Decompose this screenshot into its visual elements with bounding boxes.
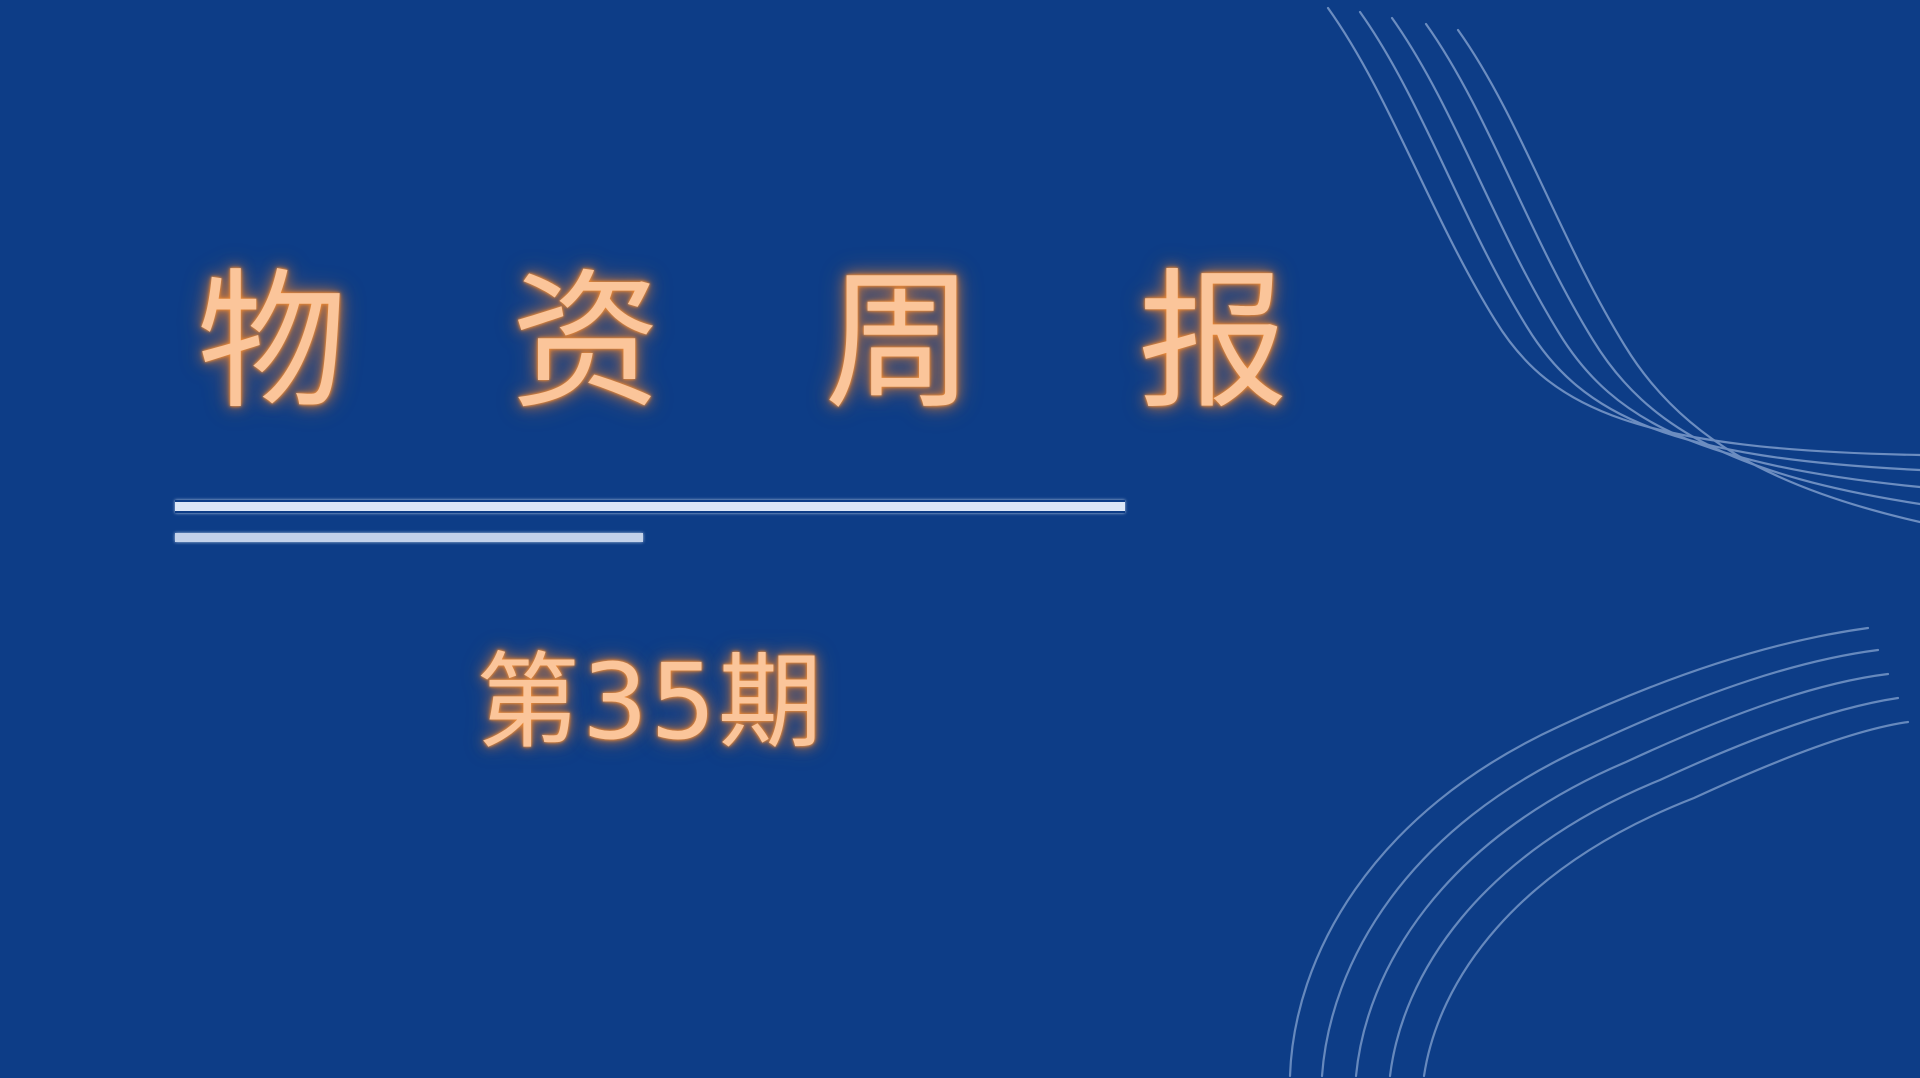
title-underline-short bbox=[175, 533, 643, 542]
slide-title: 物 资 周 报 bbox=[197, 268, 1155, 418]
slide-subtitle-issue: 第35期 bbox=[0, 645, 1300, 759]
title-slide: 物 资 周 报 第35期 bbox=[0, 0, 1920, 1078]
title-block: 物 资 周 报 bbox=[175, 268, 1155, 418]
title-underline-long bbox=[175, 500, 1125, 513]
